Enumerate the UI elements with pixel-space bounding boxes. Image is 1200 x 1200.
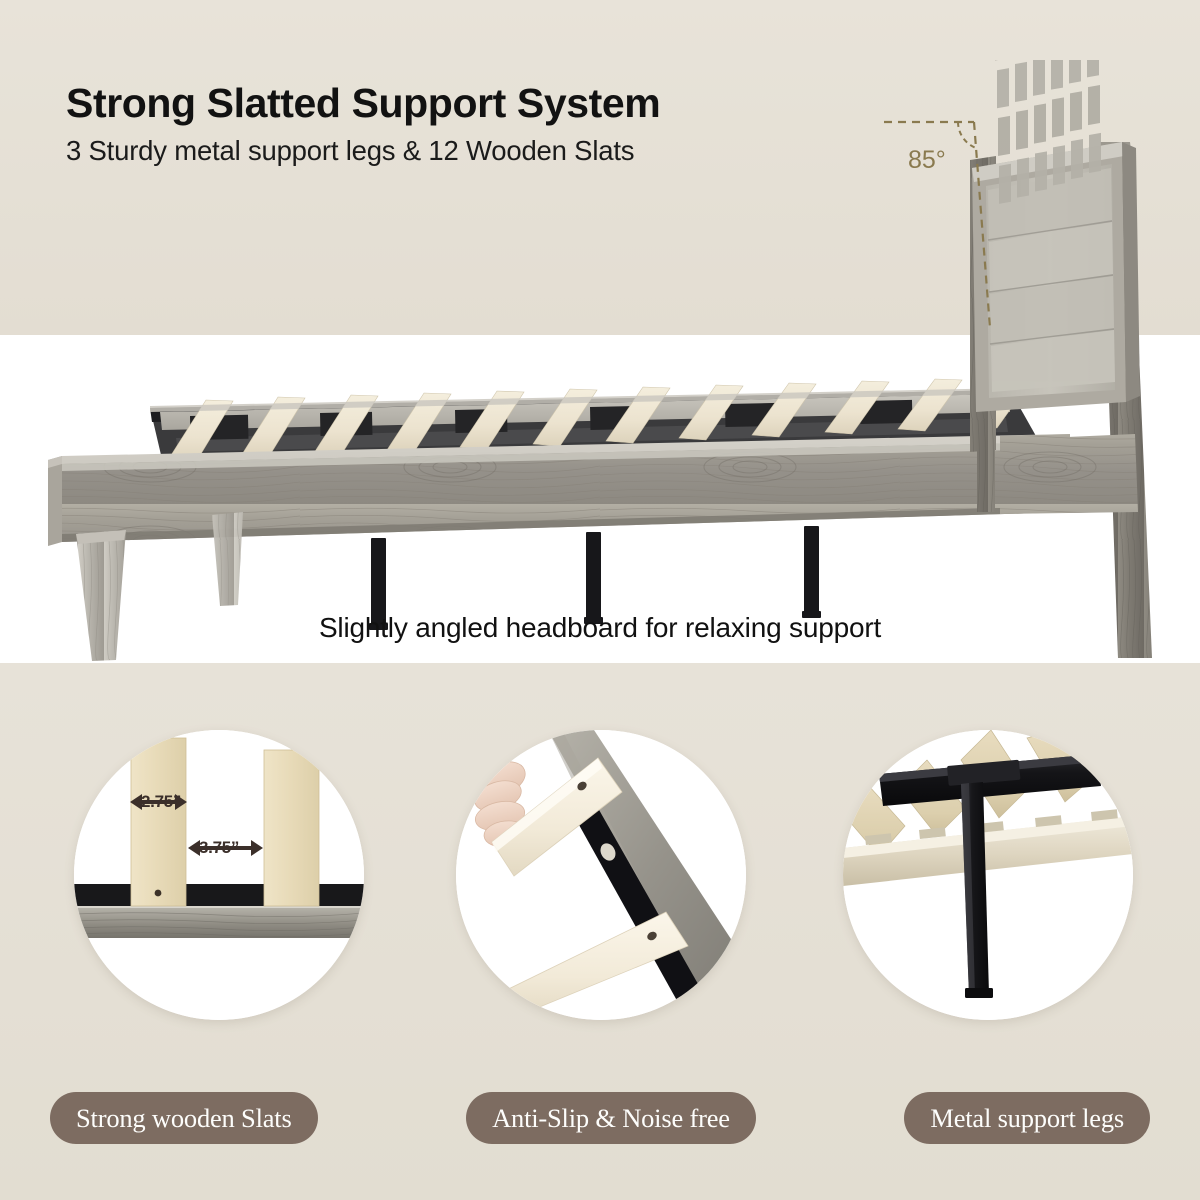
feature-pill-row: Strong wooden Slats Anti-Slip & Noise fr… <box>0 1092 1200 1150</box>
detail-circle-anti-slip <box>456 730 746 1020</box>
pill-label: Metal support legs <box>930 1103 1124 1134</box>
pill-label: Anti-Slip & Noise free <box>492 1103 730 1134</box>
pill-strong-wooden-slats[interactable]: Strong wooden Slats <box>50 1092 318 1144</box>
pill-label: Strong wooden Slats <box>76 1103 292 1134</box>
slat-gap-dimension: 3.75” <box>199 838 239 858</box>
pill-metal-support-legs[interactable]: Metal support legs <box>904 1092 1150 1144</box>
detail-circle-slat-dimensions: 2.75” 3.75” <box>74 730 364 1020</box>
pill-anti-slip-noise-free[interactable]: Anti-Slip & Noise free <box>466 1092 756 1144</box>
detail-circle-metal-support-leg <box>843 730 1133 1020</box>
headboard-angle-annotation <box>880 98 1030 328</box>
hero-caption: Slightly angled headboard for relaxing s… <box>0 612 1200 644</box>
angle-value-label: 85° <box>908 146 946 175</box>
slat-width-dimension: 2.75” <box>141 792 181 812</box>
